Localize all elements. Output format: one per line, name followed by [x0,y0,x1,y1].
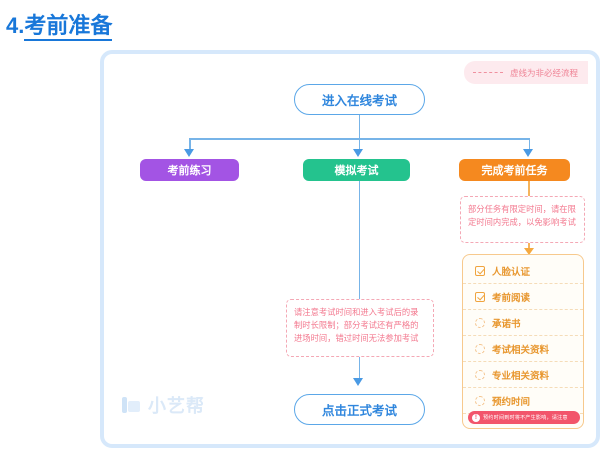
arrow-to-practice-icon [184,149,194,157]
checklist-item[interactable]: 人脸认证 [463,258,583,284]
checkbox-checked-icon[interactable] [475,266,485,276]
flowchart-panel: 虚线为非必经流程 进入在线考试 考前练习 模拟考试 完成考前任务 点击正式考试 … [100,50,600,448]
checklist-item[interactable]: 考前阅读 [463,284,583,310]
page-title-text: 考前准备 [24,13,112,41]
dashed-line-icon [473,72,503,73]
watermark-text: 小艺帮 [148,392,205,418]
app-logo-icon [122,395,142,415]
node-click-formal-exam[interactable]: 点击正式考试 [294,394,425,425]
checklist-warning-text: 预约时间到时将不产生影响，请注意 [483,414,568,421]
checkbox-pending-icon[interactable] [475,344,485,354]
checkbox-checked-icon[interactable] [475,292,485,302]
arrow-to-tasks-icon [523,149,533,157]
legend-label: 虚线为非必经流程 [510,67,578,79]
page-title-number: 4. [6,13,24,38]
pre-exam-task-checklist: 人脸认证 考前阅读 承诺书 考试相关资料 专业相关资料 预约时间 ! 预约时间到… [462,254,584,429]
connector-mock-to-note [359,181,361,299]
note-mock-exam-warning: 请注意考试时间和进入考试后的录制时长限制；部分考试还有严格的进场时间，错过时间无… [286,299,434,357]
exclamation-icon: ! [472,414,480,422]
arrow-to-mock-icon [353,149,363,157]
checklist-item-label: 专业相关资料 [492,368,549,382]
checklist-item-label: 预约时间 [492,394,530,408]
checkbox-pending-icon[interactable] [475,370,485,380]
watermark: 小艺帮 [122,392,205,418]
node-pre-exam-practice[interactable]: 考前练习 [140,159,239,181]
checklist-item-label: 考试相关资料 [492,342,549,356]
connector-enter-down [359,115,361,139]
node-mock-exam[interactable]: 模拟考试 [303,159,410,181]
arrow-to-formal-icon [353,378,363,386]
legend: 虚线为非必经流程 [464,61,588,84]
connector-note-to-formal [359,357,361,379]
checklist-item[interactable]: 专业相关资料 [463,362,583,388]
note-tasks-time-limit: 部分任务有限定时间，请在限定时间内完成，以免影响考试 [460,196,585,243]
checklist-warning-banner: ! 预约时间到时将不产生影响，请注意 [468,411,580,424]
connector-tasks-to-note [528,181,530,196]
checklist-item-label: 承诺书 [492,316,521,330]
checklist-item-label: 人脸认证 [492,264,530,278]
node-finish-pre-exam-tasks[interactable]: 完成考前任务 [459,159,570,181]
checklist-item[interactable]: 承诺书 [463,310,583,336]
page-title: 4.考前准备 [6,8,112,40]
checklist-item-label: 考前阅读 [492,290,530,304]
checkbox-pending-icon[interactable] [475,396,485,406]
checkbox-pending-icon[interactable] [475,318,485,328]
checklist-item[interactable]: 考试相关资料 [463,336,583,362]
node-enter-online-exam[interactable]: 进入在线考试 [294,84,425,115]
